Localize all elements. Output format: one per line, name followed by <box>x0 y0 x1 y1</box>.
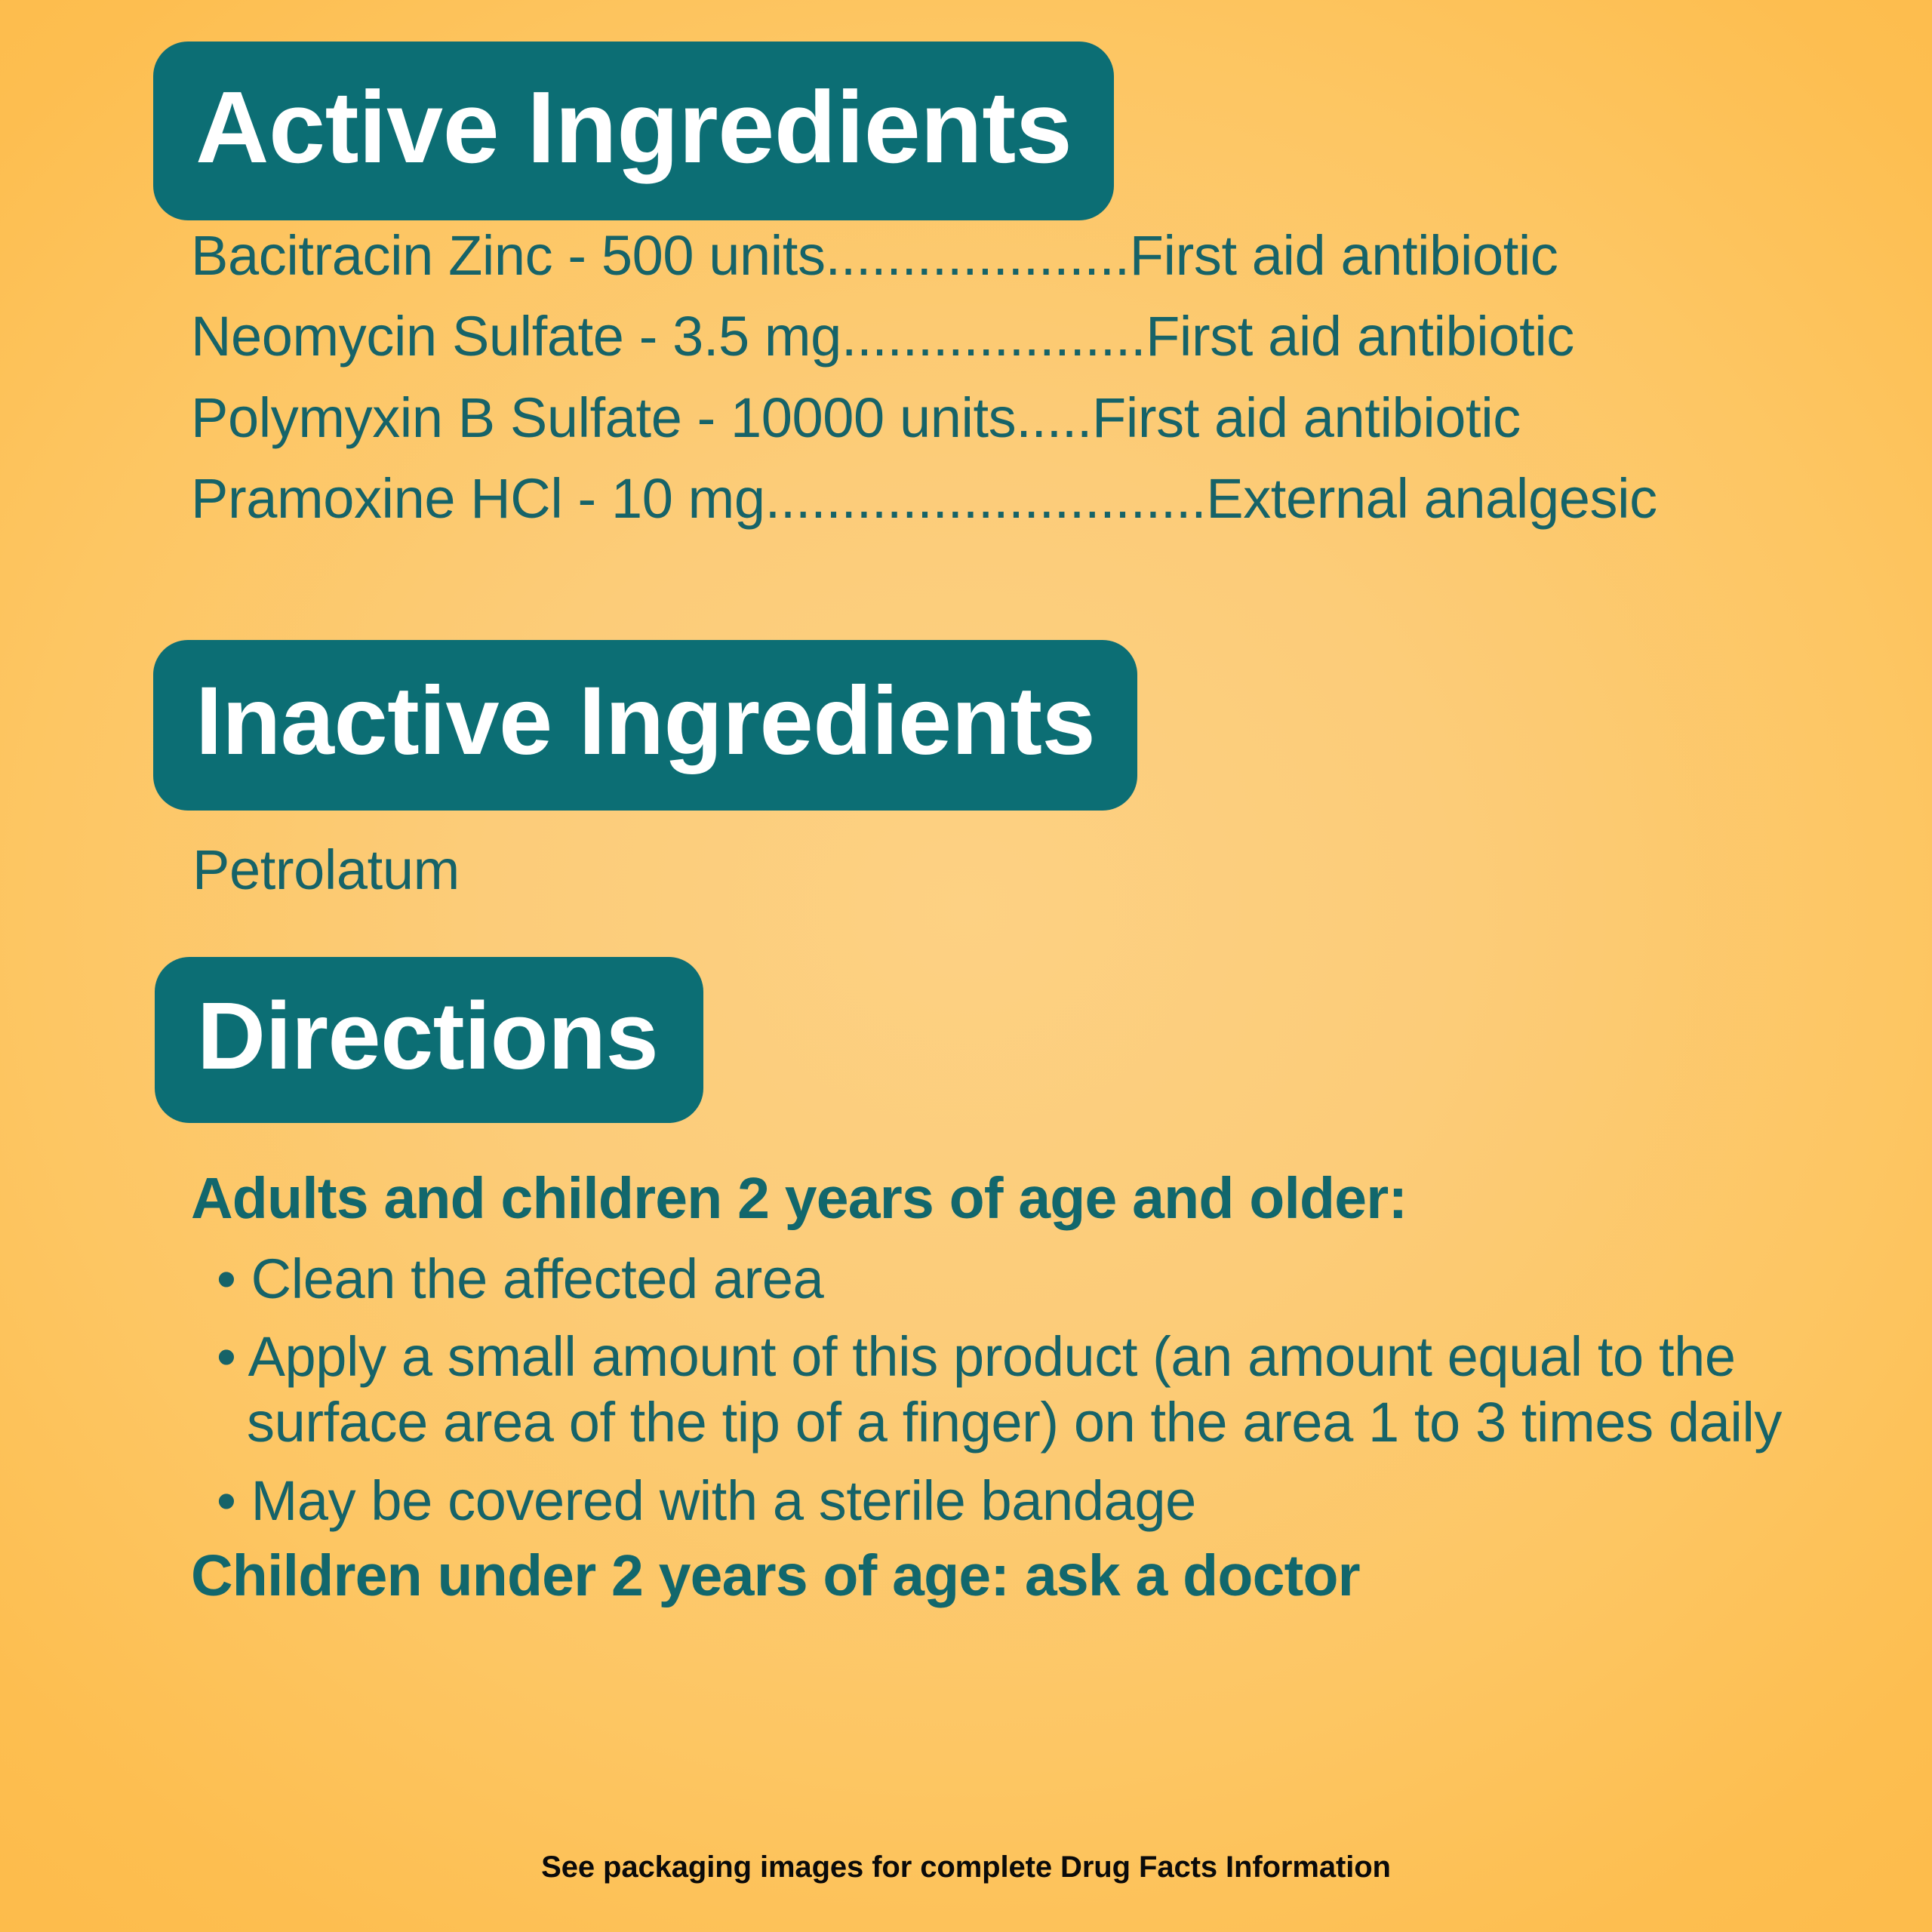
active-ingredients-heading: Active Ingredients <box>153 42 1114 220</box>
inactive-ingredients-heading: Inactive Ingredients <box>153 640 1137 811</box>
directions-heading: Directions <box>155 957 703 1123</box>
ingredient-row: Pramoxine HCl - 10 mg...................… <box>191 469 1836 528</box>
ingredient-row: Neomycin Sulfate - 3.5 mg...............… <box>191 307 1836 366</box>
directions-bullet: • May be covered with a sterile bandage <box>191 1468 1791 1534</box>
packaging-footnote: See packaging images for complete Drug F… <box>0 1850 1932 1884</box>
directions-children-note: Children under 2 years of age: ask a doc… <box>191 1546 1851 1607</box>
directions-content: Adults and children 2 years of age and o… <box>191 1168 1851 1607</box>
directions-bullet: • Clean the affected area <box>191 1246 1791 1312</box>
ingredient-row: Polymyxin B Sulfate - 10000 units.....Fi… <box>191 389 1836 448</box>
drug-facts-panel: Active Ingredients Bacitracin Zinc - 500… <box>0 0 1932 1932</box>
directions-bullet: • Apply a small amount of this product (… <box>191 1324 1791 1456</box>
directions-adults-heading: Adults and children 2 years of age and o… <box>191 1168 1851 1229</box>
inactive-ingredient-item: Petrolatum <box>192 838 460 902</box>
ingredient-row: Bacitracin Zinc - 500 units.............… <box>191 226 1836 285</box>
active-ingredients-list: Bacitracin Zinc - 500 units.............… <box>191 226 1836 551</box>
